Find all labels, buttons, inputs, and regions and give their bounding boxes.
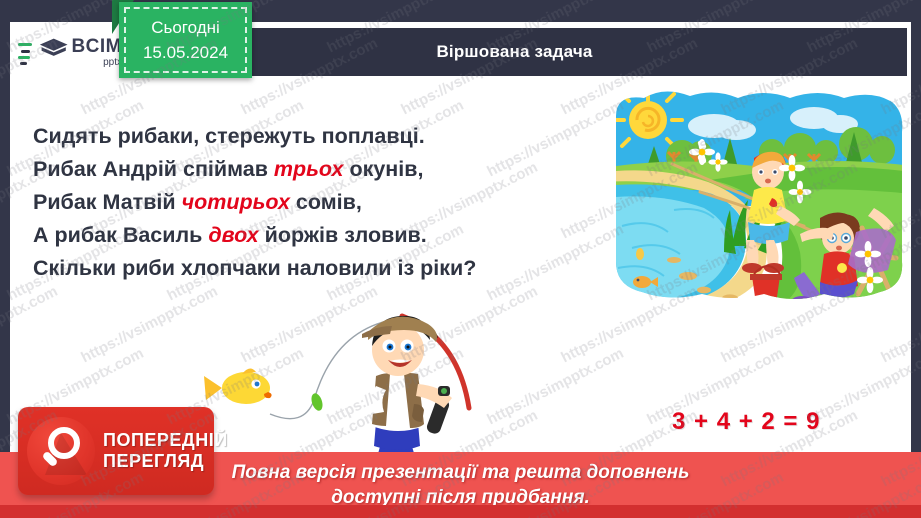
date-badge: Сьогодні 15.05.2024 [119, 2, 252, 78]
equation-result: 3 + 4 + 2 = 9 [672, 408, 820, 436]
preview-badge[interactable]: ПОПЕРЕДНІЙ ПЕРЕГЛЯД [18, 407, 214, 495]
speed-lines-icon [18, 37, 37, 67]
magnifier-icon [27, 417, 95, 485]
poem-highlight-word: чотирьох [182, 190, 290, 214]
poem-highlight-word: двох [208, 223, 258, 247]
poem-text-run: Скільки риби хлопчаки наловили із ріки? [33, 256, 476, 280]
brand-logo: BCIM pptx [10, 26, 122, 78]
poem-text-run: Рибак Матвій [33, 190, 182, 214]
poem-text: Сидять рибаки, стережуть поплавці. Рибак… [33, 120, 598, 285]
preview-badge-text: ПОПЕРЕДНІЙ ПЕРЕГЛЯД [103, 430, 228, 472]
poem-line-3: Рибак Матвій чотирьох сомів, [33, 186, 598, 219]
poem-highlight-word: трьох [274, 157, 344, 181]
poem-text-run: сомів, [290, 190, 362, 214]
river-scene-illustration [604, 86, 912, 304]
poem-text-run: Сидять рибаки, стережуть поплавці. [33, 124, 425, 148]
brand-text: BCIM pptx [71, 37, 122, 68]
poem-line-4: А рибак Василь двох йоржів зловив. [33, 219, 598, 252]
slide-canvas: Віршована задача BCIM pptx Сьогодні 15.0… [0, 0, 921, 518]
preview-badge-line-2: ПЕРЕГЛЯД [103, 451, 204, 471]
date-badge-date: 15.05.2024 [143, 40, 228, 65]
poem-text-run: окунів, [343, 157, 423, 181]
brand-name: BCIM [71, 37, 122, 56]
poem-text-run: А рибак Василь [33, 223, 208, 247]
purchase-banner-line-1: Повна версія презентації та решта доповн… [232, 460, 690, 485]
poem-line-1: Сидять рибаки, стережуть поплавці. [33, 120, 598, 153]
brand-sub: pptx [71, 58, 122, 68]
graduation-cap-icon [39, 36, 68, 68]
poem-line-2: Рибак Андрій спіймав трьох окунів, [33, 153, 598, 186]
poem-text-run: йоржів зловив. [259, 223, 427, 247]
poem-line-5: Скільки риби хлопчаки наловили із ріки? [33, 252, 598, 285]
page-title: Віршована задача [436, 42, 592, 62]
banner-bottom-strip [0, 505, 921, 518]
date-badge-label: Сьогодні [151, 15, 220, 40]
preview-badge-line-1: ПОПЕРЕДНІЙ [103, 430, 228, 450]
poem-text-run: Рибак Андрій спіймав [33, 157, 274, 181]
